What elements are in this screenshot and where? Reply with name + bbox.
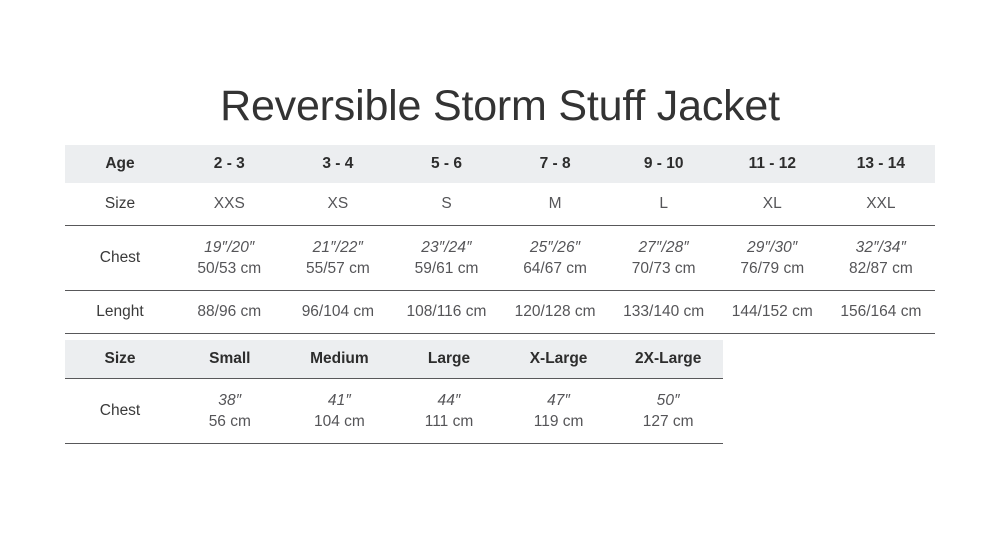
adult-header-label: Size	[65, 340, 175, 379]
table-row: Chest 19″/20″ 50/53 cm 21″/22″ 55/57 cm …	[65, 226, 935, 291]
adult-table-head: Size Small Medium Large X-Large 2X-Large	[65, 340, 723, 379]
kids-length-cell-4: 133/140 cm	[609, 291, 718, 334]
kids-header-col-4: 9 - 10	[609, 145, 718, 183]
kids-header-col-5: 11 - 12	[718, 145, 827, 183]
adult-header-col-2: Large	[394, 340, 504, 379]
size-chart-page: Reversible Storm Stuff Jacket Age 2 - 3 …	[0, 0, 1000, 542]
kids-size-cell-1: XS	[284, 183, 393, 226]
table-row: Chest 38″ 56 cm 41″ 104 cm 44″ 111 cm 47…	[65, 379, 723, 444]
adult-chest-cell-4: 50″ 127 cm	[613, 379, 723, 444]
kids-chest-inches-1: 21″/22″	[284, 237, 393, 258]
page-title: Reversible Storm Stuff Jacket	[0, 82, 1000, 131]
kids-chest-cell-5: 29″/30″ 76/79 cm	[718, 226, 827, 291]
kids-length-cell-2: 108/116 cm	[392, 291, 501, 334]
adult-chest-inches-4: 50″	[613, 390, 723, 411]
adult-chest-inches-2: 44″	[394, 390, 504, 411]
kids-table-head: Age 2 - 3 3 - 4 5 - 6 7 - 8 9 - 10 11 - …	[65, 145, 935, 183]
adult-row-label-chest: Chest	[65, 379, 175, 444]
adult-chest-cm-1: 104 cm	[285, 411, 395, 432]
table-row: Size XXS XS S M L XL XXL	[65, 183, 935, 226]
kids-chest-cell-2: 23″/24″ 59/61 cm	[392, 226, 501, 291]
kids-chest-cm-3: 64/67 cm	[501, 258, 610, 279]
kids-size-cell-5: XL	[718, 183, 827, 226]
kids-header-col-6: 13 - 14	[827, 145, 936, 183]
kids-chest-cell-4: 27″/28″ 70/73 cm	[609, 226, 718, 291]
kids-header-col-0: 2 - 3	[175, 145, 284, 183]
adult-size-chart-table: Size Small Medium Large X-Large 2X-Large…	[65, 340, 723, 444]
kids-chest-inches-6: 32″/34″	[827, 237, 936, 258]
kids-chest-cm-2: 59/61 cm	[392, 258, 501, 279]
kids-chest-inches-4: 27″/28″	[609, 237, 718, 258]
kids-header-col-3: 7 - 8	[501, 145, 610, 183]
table-row: Lenght 88/96 cm 96/104 cm 108/116 cm 120…	[65, 291, 935, 334]
kids-chest-cm-1: 55/57 cm	[284, 258, 393, 279]
kids-size-cell-0: XXS	[175, 183, 284, 226]
adult-chest-inches-3: 47″	[504, 390, 614, 411]
adult-header-row: Size Small Medium Large X-Large 2X-Large	[65, 340, 723, 379]
adult-chest-cm-3: 119 cm	[504, 411, 614, 432]
kids-header-row: Age 2 - 3 3 - 4 5 - 6 7 - 8 9 - 10 11 - …	[65, 145, 935, 183]
kids-chest-cm-5: 76/79 cm	[718, 258, 827, 279]
adult-chest-cell-3: 47″ 119 cm	[504, 379, 614, 444]
kids-table-body: Size XXS XS S M L XL XXL Chest 19″/20″ 5…	[65, 183, 935, 334]
kids-chest-inches-5: 29″/30″	[718, 237, 827, 258]
kids-chest-cell-1: 21″/22″ 55/57 cm	[284, 226, 393, 291]
kids-chest-cm-6: 82/87 cm	[827, 258, 936, 279]
adult-chest-cm-0: 56 cm	[175, 411, 285, 432]
adult-chest-inches-0: 38″	[175, 390, 285, 411]
adult-chest-cm-4: 127 cm	[613, 411, 723, 432]
kids-length-cell-3: 120/128 cm	[501, 291, 610, 334]
adult-header-col-4: 2X-Large	[613, 340, 723, 379]
adult-chest-cell-0: 38″ 56 cm	[175, 379, 285, 444]
kids-chest-inches-0: 19″/20″	[175, 237, 284, 258]
kids-size-cell-4: L	[609, 183, 718, 226]
kids-length-cell-0: 88/96 cm	[175, 291, 284, 334]
adult-chest-cell-2: 44″ 111 cm	[394, 379, 504, 444]
adult-chest-cell-1: 41″ 104 cm	[285, 379, 395, 444]
kids-size-cell-3: M	[501, 183, 610, 226]
kids-chest-cell-3: 25″/26″ 64/67 cm	[501, 226, 610, 291]
kids-row-label-length: Lenght	[65, 291, 175, 334]
adult-header-col-0: Small	[175, 340, 285, 379]
kids-header-label: Age	[65, 145, 175, 183]
adult-chest-cm-2: 111 cm	[394, 411, 504, 432]
kids-header-col-1: 3 - 4	[284, 145, 393, 183]
kids-header-col-2: 5 - 6	[392, 145, 501, 183]
kids-chest-inches-3: 25″/26″	[501, 237, 610, 258]
kids-row-label-chest: Chest	[65, 226, 175, 291]
kids-chest-cm-4: 70/73 cm	[609, 258, 718, 279]
kids-chest-inches-2: 23″/24″	[392, 237, 501, 258]
kids-size-chart-table: Age 2 - 3 3 - 4 5 - 6 7 - 8 9 - 10 11 - …	[65, 145, 935, 334]
kids-length-cell-6: 156/164 cm	[827, 291, 936, 334]
kids-chest-cell-0: 19″/20″ 50/53 cm	[175, 226, 284, 291]
kids-chest-cm-0: 50/53 cm	[175, 258, 284, 279]
kids-chest-cell-6: 32″/34″ 82/87 cm	[827, 226, 936, 291]
kids-length-cell-1: 96/104 cm	[284, 291, 393, 334]
adult-header-col-3: X-Large	[504, 340, 614, 379]
kids-size-cell-6: XXL	[827, 183, 936, 226]
adult-table-body: Chest 38″ 56 cm 41″ 104 cm 44″ 111 cm 47…	[65, 379, 723, 444]
kids-length-cell-5: 144/152 cm	[718, 291, 827, 334]
kids-row-label-size: Size	[65, 183, 175, 226]
kids-size-cell-2: S	[392, 183, 501, 226]
adult-chest-inches-1: 41″	[285, 390, 395, 411]
adult-header-col-1: Medium	[285, 340, 395, 379]
